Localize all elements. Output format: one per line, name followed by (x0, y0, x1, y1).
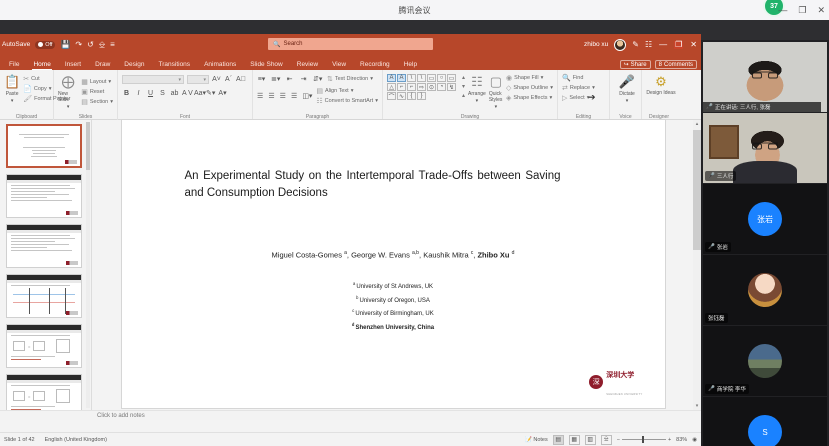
text-highlight-icon[interactable]: ✎▾ (206, 89, 215, 97)
line-spacing-icon[interactable]: ⇵▾ (313, 75, 322, 83)
ppt-minimize-button[interactable]: — (658, 41, 668, 49)
redo-icon[interactable]: ↺ (87, 40, 94, 49)
section-caret[interactable]: ▾ (110, 99, 113, 105)
slide-canvas[interactable]: An Experimental Study on the Intertempor… (122, 120, 665, 408)
design-ideas-icon: ⚙ (655, 74, 667, 90)
replace-label: Replace (570, 85, 590, 91)
tab-label: Transitions (159, 61, 191, 68)
thumb-line (11, 185, 70, 186)
chip-label: Share (631, 62, 647, 68)
tab-design[interactable]: Design (117, 60, 151, 70)
shape-fill-button[interactable]: ◉ Shape Fill ▾ (506, 74, 553, 82)
affiliation-text: Shenzhen University, China (356, 325, 435, 331)
cut-label: Cut (31, 76, 40, 82)
find-button[interactable]: 🔍 Find (562, 74, 605, 82)
zoom-knob[interactable] (642, 436, 644, 443)
tab-label: Insert (65, 61, 81, 68)
participant-name-text: 正在讲话: 三人行, 张磊 (715, 103, 771, 111)
thumb-line (11, 406, 55, 407)
participant-name-label: 张钰磊 (705, 313, 728, 323)
thumb-subheader (7, 180, 81, 183)
shape-cell[interactable]: \ (417, 74, 426, 82)
font-color-icon[interactable]: A▾ (218, 89, 227, 97)
microphone-muted-icon: 🎤 (708, 244, 715, 250)
shape-outline-caret[interactable]: ▾ (550, 85, 553, 91)
thumb-line (11, 244, 69, 245)
shape-gallery-more[interactable]: ▴ (462, 92, 465, 99)
shape-cell[interactable]: ⌐ (397, 83, 406, 91)
dictate-button[interactable]: 🎤 Dictate ▾ (614, 72, 640, 104)
affiliation-text: University of St Andrews, UK (356, 284, 433, 290)
tab-insert[interactable]: Insert (58, 60, 88, 70)
tab-file[interactable]: File (2, 60, 26, 70)
select-icon: ▷ (562, 94, 567, 102)
copy-caret[interactable]: ▾ (49, 86, 52, 92)
new-slide-label: New Slide (58, 91, 78, 103)
list-item[interactable] (6, 224, 82, 268)
thumb-line (11, 188, 75, 189)
avatar (748, 273, 782, 307)
design-ideas-label: Design Ideas (646, 91, 675, 96)
slide-title[interactable]: An Experimental Study on the Intertempor… (185, 168, 561, 201)
underline-button[interactable]: U (146, 90, 155, 97)
meeting-minimize-button[interactable]: — (778, 6, 787, 15)
avatar: 张岩 (748, 202, 782, 236)
thumb-line (24, 137, 64, 138)
logo-subtitle: SHENZHEN UNIVERSITY (606, 393, 642, 396)
undo-icon[interactable]: ↷ (75, 40, 82, 49)
account-name[interactable]: zhibo xu (584, 41, 608, 48)
slide-show-view-button[interactable]: ⎒ (601, 435, 612, 445)
thumb-line (11, 191, 55, 192)
ppt-main-area: == An Experimental Study on the Intertem… (0, 120, 701, 446)
format-painter-icon: 🖌 (23, 95, 32, 103)
align-text-button[interactable]: ▤ Align Text ▾ (316, 87, 378, 95)
smartart-caret[interactable]: ▾ (375, 98, 378, 104)
affiliation-text: University of Birmingham, UK (355, 311, 433, 317)
ribbon-group-editing: 🔍 Find ⇄ Replace ▾ ▷ Select ▾ (558, 70, 610, 120)
thumb-body (8, 126, 80, 157)
ribbon-group-clipboard: 📋 Paste ▾ ✂ Cut 📄 Copy (0, 70, 54, 120)
tab-recording[interactable]: Recording (353, 60, 397, 70)
quick-styles-label: Quick Styles (489, 91, 503, 103)
shape-cell[interactable]: ▭ (427, 74, 436, 82)
thumb-line (11, 356, 55, 357)
tab-slide-show[interactable]: Slide Show (243, 60, 290, 70)
autosave-label: AutoSave (2, 41, 30, 48)
thumb-matrix (33, 391, 45, 401)
comments-icon: ὞8 (659, 61, 662, 68)
participant-name-label: 🎤三人行 (705, 171, 736, 181)
ribbon-group-slides: ⨁ New Slide ▾ ▦ Layout ▾ ▣ (54, 70, 118, 120)
clear-formatting-icon[interactable]: A⃠ (236, 76, 245, 83)
zoom-slider[interactable]: − + (617, 437, 671, 443)
author-affiliation-marker: d (512, 250, 515, 256)
tab-label: Home (33, 61, 50, 68)
list-item[interactable]: = (6, 374, 82, 410)
thumb-line (11, 197, 47, 198)
autosave-state: Off (45, 42, 52, 48)
strikethrough-button[interactable]: ab (170, 90, 179, 97)
copy-icon: 📄 (23, 85, 32, 93)
align-text-label: Align Text (325, 88, 349, 94)
section-label: Section (90, 99, 108, 105)
ppt-quick-access-toolbar: AutoSave Off 💾 ↷ ↺ ⎒ ≡ Macro_2021Oct ▾ (0, 34, 701, 55)
shape-effects-caret[interactable]: ▾ (550, 95, 553, 101)
shape-effects-button[interactable]: ◈ Shape Effects ▾ (506, 94, 553, 102)
slide-scrollbar[interactable]: ▴ ▾ (693, 120, 701, 410)
powerpoint-window: AutoSave Off 💾 ↷ ↺ ⎒ ≡ Macro_2021Oct ▾ (0, 34, 701, 446)
meeting-close-button[interactable]: ✕ (817, 6, 825, 15)
paste-caret[interactable]: ▾ (11, 98, 14, 104)
text-direction-caret[interactable]: ▾ (370, 76, 373, 82)
shape-cell[interactable]: { (407, 92, 416, 100)
shape-effects-label: Shape Effects (513, 95, 547, 101)
bullets-icon[interactable]: ≡▾ (257, 75, 266, 83)
tab-animations[interactable]: Animations (197, 60, 243, 70)
arrange-icon: ☷ (471, 74, 483, 90)
zoom-in-button[interactable]: + (668, 437, 671, 443)
search-input[interactable]: 🔍 Search (268, 38, 433, 50)
tab-label: Draw (95, 61, 110, 68)
notes-toggle-label: Notes (533, 437, 547, 443)
participant-name-label: 🎤商学院 李华 (705, 384, 749, 394)
tab-label: Animations (204, 61, 236, 68)
shape-cell[interactable]: ⇨ (417, 83, 426, 91)
list-item[interactable] (6, 174, 82, 218)
section-button[interactable]: ▤ Section ▾ (81, 98, 113, 106)
fit-to-window-icon[interactable]: ◉ (692, 437, 697, 443)
screen-root: 腾讯会议 37 — ❐ ✕ AutoSave Off 💾 ↷ ↺ (0, 0, 829, 446)
scroll-up-icon[interactable]: ▴ (693, 120, 701, 128)
microphone-muted-icon: 🎤 (706, 104, 713, 110)
ink-icon[interactable]: ✎ (632, 40, 639, 49)
new-slide-caret[interactable]: ▾ (67, 104, 70, 110)
paste-label: Paste (6, 91, 19, 97)
thumb-logo (66, 311, 78, 315)
shape-gallery-scroll-up[interactable]: ▴ (462, 74, 465, 81)
shape-cell[interactable]: ⊙ (427, 83, 436, 91)
notes-toggle-button[interactable]: 📝 Notes (525, 437, 548, 443)
meeting-title: 腾讯会议 (399, 5, 431, 16)
normal-view-button[interactable]: ▤ (553, 435, 564, 445)
avatar[interactable] (614, 39, 626, 51)
thumb-line (11, 359, 41, 360)
tab-review[interactable]: Review (290, 60, 325, 70)
thumb-line (33, 153, 55, 154)
tab-label: File (9, 61, 19, 68)
affiliation-text: University of Oregon, USA (360, 298, 430, 304)
dictate-label: Dictate (619, 91, 635, 97)
participant-name-label: 🎤张岩 (705, 242, 731, 252)
thumb-matrix (56, 389, 70, 403)
bold-button[interactable]: B (122, 90, 131, 97)
zoom-out-button[interactable]: − (617, 437, 620, 443)
shape-effects-icon: ◈ (506, 94, 511, 102)
participant-tile[interactable]: 🎤商学院 李华 (703, 326, 827, 396)
author-name: , George W. Evans (347, 251, 412, 260)
shape-fill-caret[interactable]: ▾ (541, 75, 544, 81)
qat-right-group: zhibo xu ✎ ☷ — ❐ ✕ (584, 34, 698, 55)
slide-thumbnail-pane[interactable]: == (0, 120, 92, 410)
smartart-label: Convert to SmartArt (325, 98, 374, 104)
autosave-knob (38, 42, 43, 47)
tab-home[interactable]: Home (26, 60, 57, 70)
replace-button[interactable]: ⇄ Replace ▾ (562, 84, 605, 92)
tab-help[interactable]: Help (397, 60, 424, 70)
align-right-icon[interactable]: ☰ (280, 92, 286, 100)
thumb-line (31, 156, 57, 157)
ribbon-display-options-icon[interactable]: ☷ (645, 40, 652, 49)
change-case-button[interactable]: Aa▾ (194, 89, 203, 97)
participant-tile[interactable]: S🎤simple (703, 397, 827, 446)
thumb-line (11, 250, 72, 251)
paste-button[interactable]: 📋 Paste ▾ (4, 72, 20, 104)
character-spacing-icon[interactable]: A V (182, 90, 191, 97)
tab-label: Recording (360, 61, 390, 68)
dictate-caret[interactable]: ▾ (626, 98, 629, 104)
ribbon-group-drawing: AA\\▭○▭△⌐⌐⇨⊙◔↯⌒∿{} ▴ ▾ ▴ ☷ Arrange ▾ (383, 70, 558, 120)
participant-tile[interactable]: 🎤正在讲话: 三人行, 张磊 (703, 42, 827, 112)
participant-tile[interactable]: 🎤三人行 (703, 113, 827, 183)
replace-caret[interactable]: ▾ (592, 85, 595, 91)
shape-cell[interactable]: A (387, 74, 396, 82)
thumb-line (23, 147, 65, 148)
slide-sorter-view-button[interactable]: ▦ (569, 435, 580, 445)
tab-label: Review (297, 61, 318, 68)
tab-label: Slide Show (250, 61, 283, 68)
list-item[interactable] (6, 274, 82, 318)
decrease-indent-icon[interactable]: ⇤ (285, 75, 294, 83)
shape-gallery[interactable]: AA\\▭○▭△⌐⌐⇨⊙◔↯⌒∿{} (387, 72, 456, 100)
shape-gallery-scroll-down[interactable]: ▾ (462, 83, 465, 90)
text-direction-button[interactable]: ⇅ Text Direction ▾ (327, 75, 373, 83)
share-button[interactable]: ↪Share (620, 60, 651, 69)
participant-name-text: 三人行 (717, 172, 734, 180)
qat-left-group: AutoSave Off 💾 ↷ ↺ ⎒ ≡ (0, 40, 115, 50)
tab-label: Help (404, 61, 417, 68)
scroll-thumb[interactable] (693, 130, 701, 250)
ribbon-group-voice: 🎤 Dictate ▾ Voice (610, 70, 642, 120)
thumb-line (11, 194, 69, 195)
arrange-caret[interactable]: ▾ (476, 98, 479, 104)
author-name: Miguel Costa-Gomes (272, 251, 345, 260)
find-icon: 🔍 (562, 74, 571, 82)
thumb-matrix (33, 341, 45, 351)
increase-indent-icon[interactable]: ⇥ (299, 75, 308, 83)
reset-button[interactable]: ▣ Reset (81, 88, 113, 96)
affiliation-row: a University of St Andrews, UK (122, 280, 665, 294)
notes-placeholder: Click to add notes (97, 413, 145, 419)
status-left: Slide 1 of 42 English (United Kingdom) (0, 437, 107, 443)
thumb-line (11, 285, 70, 286)
autosave-toggle[interactable]: Off (35, 41, 55, 49)
text-direction-icon: ⇅ (327, 75, 333, 83)
thumb-matrix (13, 341, 25, 351)
thumbnail-scrollbar[interactable] (86, 122, 90, 408)
slide-counter[interactable]: Slide 1 of 42 (4, 437, 35, 443)
status-right: 📝 Notes ▤ ▦ ▥ ⎒ − + 83% ◉ (525, 435, 701, 445)
thumb-line (11, 200, 72, 201)
glasses-icon (752, 71, 778, 78)
thumb-line (32, 150, 56, 151)
thumb-line (11, 247, 47, 248)
ppt-status-bar: Slide 1 of 42 English (United Kingdom) 📝… (0, 432, 701, 446)
tab-label: View (332, 61, 346, 68)
shape-cell[interactable]: \ (407, 74, 416, 82)
tab-view[interactable]: View (325, 60, 353, 70)
new-slide-button[interactable]: ⨁ New Slide ▾ (58, 72, 78, 110)
thumb-line (11, 238, 75, 239)
participant-tile[interactable]: 张钰磊 (703, 255, 827, 325)
chip-label: Comments (664, 62, 693, 68)
participant-name-text: 商学院 李华 (717, 385, 746, 393)
notes-pane[interactable]: Click to add notes (0, 410, 701, 424)
text-direction-label: Text Direction (335, 76, 368, 82)
logo-seal-icon: 深 (589, 375, 603, 389)
affiliation-row: d Shenzhen University, China (122, 321, 665, 335)
thumb-logo (65, 160, 77, 164)
select-button[interactable]: ▷ Select ▾ (562, 94, 605, 102)
search-placeholder: Search (283, 41, 302, 47)
participant-name-text: 张岩 (717, 243, 728, 251)
reading-view-button[interactable]: ▥ (585, 435, 596, 445)
justify-icon[interactable]: ☰ (291, 92, 297, 100)
shape-cell[interactable]: ◔ (437, 83, 446, 91)
align-text-caret[interactable]: ▾ (351, 88, 354, 94)
microphone-muted-icon: 🎤 (708, 386, 715, 392)
thumb-subheader (7, 230, 81, 233)
slide-editing-stage: An Experimental Study on the Intertempor… (93, 120, 693, 410)
reset-icon: ▣ (81, 88, 88, 96)
font-size-input[interactable]: ▾ (187, 75, 209, 84)
shape-outline-label: Shape Outline (513, 85, 548, 91)
section-icon: ▤ (81, 98, 88, 106)
layout-caret[interactable]: ▾ (108, 79, 111, 85)
shape-cell[interactable]: ○ (437, 74, 446, 82)
start-presentation-icon[interactable]: ⎒ (99, 40, 105, 50)
author-affiliation-marker: a,b (412, 250, 419, 256)
meeting-body: AutoSave Off 💾 ↷ ↺ ⎒ ≡ Macro_2021Oct ▾ (0, 20, 829, 446)
thumb-logo (66, 261, 78, 265)
convert-to-smartart-button[interactable]: ☷ Convert to SmartArt ▾ (316, 97, 378, 105)
list-item[interactable]: = (6, 324, 82, 368)
microphone-on-icon: 🎤 (708, 173, 715, 179)
thumb-chart-axis (49, 288, 50, 314)
customize-quick-access-icon[interactable]: ≡ (110, 40, 115, 49)
tab-transitions[interactable]: Transitions (152, 60, 198, 70)
grow-font-button[interactable]: A˅ (212, 76, 221, 83)
ribbon-group-font: ▾ ▾ A˅ Aˊ A⃠ B I U S ab (118, 70, 253, 120)
cut-icon: ✂ (23, 75, 29, 83)
author-name: Zhibo Xu (477, 251, 511, 260)
arrange-label: Arrange (468, 91, 486, 97)
shape-cell[interactable]: ↯ (447, 83, 456, 91)
logo-name: 深圳大学 (606, 372, 634, 379)
university-logo: 深 深圳大学 SHENZHEN UNIVERSITY (589, 364, 642, 400)
arrange-button[interactable]: ☷ Arrange ▾ (468, 72, 486, 104)
font-name-input[interactable]: ▾ (122, 75, 184, 84)
align-center-icon[interactable]: ☰ (268, 92, 274, 100)
slide-affiliations[interactable]: a University of St Andrews, UKb Universi… (122, 280, 665, 335)
avatar (748, 344, 782, 378)
participant-name-label: 🎤正在讲话: 三人行, 张磊 (703, 102, 821, 112)
meeting-window-controls: — ❐ ✕ (778, 0, 825, 20)
slide-authors[interactable]: Miguel Costa-Gomes a, George W. Evans a,… (122, 250, 665, 260)
shape-cell[interactable]: △ (387, 83, 396, 91)
align-text-icon: ▤ (316, 87, 323, 95)
thumb-subheader (7, 280, 81, 283)
new-slide-icon: ⨁ (62, 74, 75, 90)
ribbon-group-designer: ⚙ Design Ideas Designer (642, 70, 676, 120)
thumb-subheader (7, 330, 81, 333)
columns-icon[interactable]: ◫▾ (302, 92, 311, 100)
participant-tile[interactable]: 张岩🎤张岩 (703, 184, 827, 254)
numbering-icon[interactable]: ≣▾ (271, 75, 280, 83)
shape-cell[interactable]: ⌒ (387, 92, 396, 100)
shape-outline-button[interactable]: ◇ Shape Outline ▾ (506, 84, 553, 92)
author-name: , Kaushik Mitra (419, 251, 471, 260)
tab-draw[interactable]: Draw (88, 60, 117, 70)
scroll-down-icon[interactable]: ▾ (693, 402, 701, 410)
thumb-line (11, 385, 70, 386)
affiliation-row: b University of Oregon, USA (122, 294, 665, 308)
ppt-restore-button[interactable]: ❐ (674, 41, 683, 49)
comments-button[interactable]: ὞8Comments (655, 60, 697, 69)
glasses-icon (752, 142, 778, 149)
smartart-icon: ☷ (316, 97, 322, 105)
avatar: S (748, 415, 782, 446)
layout-button[interactable]: ▦ Layout ▾ (81, 78, 113, 86)
meeting-titlebar: 腾讯会议 37 — ❐ ✕ (0, 0, 829, 20)
shape-fill-icon: ◉ (506, 74, 512, 82)
save-icon[interactable]: 💾 (60, 40, 70, 49)
shape-outline-icon: ◇ (506, 84, 511, 92)
shape-cell[interactable]: } (417, 92, 426, 100)
shape-cell[interactable]: ▭ (447, 74, 456, 82)
shrink-font-button[interactable]: Aˊ (224, 76, 233, 83)
thumb-logo (66, 361, 78, 365)
notes-icon: 📝 (525, 437, 532, 443)
ppt-close-button[interactable]: ✕ (689, 41, 698, 49)
meeting-maximize-button[interactable]: ❐ (798, 6, 806, 15)
participant-name-text: 张钰磊 (708, 314, 725, 322)
shadow-button[interactable]: S (158, 90, 167, 97)
paste-icon: 📋 (4, 74, 20, 90)
language-indicator[interactable]: English (United Kingdom) (45, 437, 107, 443)
zoom-track[interactable] (622, 439, 666, 440)
shape-cell[interactable]: A (397, 74, 406, 82)
shape-fill-label: Shape Fill (514, 75, 538, 81)
participants-rail[interactable]: 🎤正在讲话: 三人行, 张磊🎤三人行张岩🎤张岩张钰磊🎤商学院 李华S🎤simpl… (701, 40, 829, 446)
mouse-cursor: ➔ (588, 92, 596, 103)
quick-styles-caret[interactable]: ▾ (495, 104, 498, 110)
find-label: Find (573, 75, 584, 81)
italic-button[interactable]: I (134, 90, 143, 97)
ribbon-group-paragraph: ≡▾ ≣▾ ⇤ ⇥ ⇵▾ ⇅ Text Direction ▾ (253, 70, 383, 120)
shape-cell[interactable]: ∿ (397, 92, 406, 100)
thumb-subheader (7, 380, 81, 383)
align-left-icon[interactable]: ☰ (257, 92, 263, 100)
design-ideas-button[interactable]: ⚙ Design Ideas (646, 72, 676, 96)
thumb-line (11, 241, 55, 242)
zoom-level[interactable]: 83% (676, 437, 687, 443)
list-item[interactable] (6, 124, 82, 168)
reset-label: Reset (90, 89, 104, 95)
shape-cell[interactable]: ⌐ (407, 83, 416, 91)
quick-styles-button[interactable]: ▢ Quick Styles ▾ (489, 72, 503, 110)
copy-label: Copy (34, 86, 47, 92)
